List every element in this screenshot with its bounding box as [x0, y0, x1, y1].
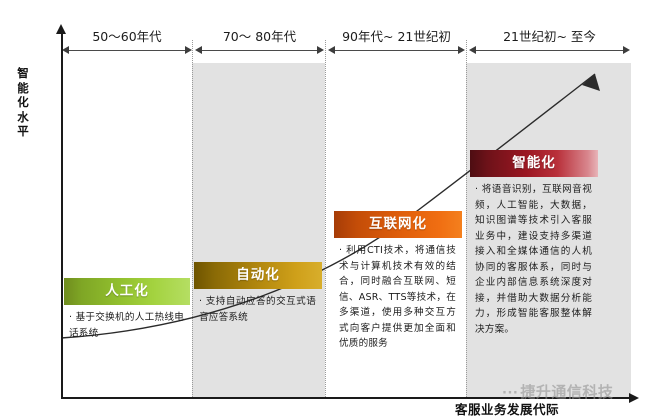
- era-span-line-1: [65, 50, 189, 51]
- watermark: ···捷升通信科技: [502, 381, 613, 402]
- arrow-right-icon: [623, 46, 630, 54]
- y-axis-label: 智能化水平: [14, 66, 32, 139]
- stage-body-artificial: · 基于交换机的人工热线电话系统: [64, 305, 190, 381]
- y-axis-arrow-icon: [56, 24, 66, 34]
- era-divider-1: [192, 40, 193, 399]
- era-span-line-4: [472, 50, 627, 51]
- stage-title-automation: 自动化: [194, 262, 322, 289]
- arrow-left-icon: [62, 46, 69, 54]
- era-span-line-3: [331, 50, 462, 51]
- stage-card-automation[interactable]: 自动化 · 支持自动应答的交互式语音应答系统: [194, 262, 322, 349]
- arrow-right-icon: [458, 46, 465, 54]
- era-divider-3: [466, 40, 467, 399]
- arrow-left-icon: [328, 46, 335, 54]
- watermark-text: 捷升通信科技: [520, 383, 613, 401]
- stage-body-intelligent: · 将语音识别，互联网音视频，人工智能，大数据，知识图谱等技术引入客服业务中，建…: [470, 177, 598, 347]
- roadmap-chart: 50～60年代 70～ 80年代 90年代~ 21世纪初 21世纪初~ 至今 智…: [0, 0, 652, 420]
- arrow-right-icon: [185, 46, 192, 54]
- stage-body-internet: · 利用CTI技术，将通信技术与计算机技术有效的结合，同时融合互联网、短信、AS…: [334, 238, 462, 374]
- arrow-left-icon: [195, 46, 202, 54]
- stage-title-artificial: 人工化: [64, 278, 190, 305]
- era-span-line-2: [198, 50, 321, 51]
- arrow-right-icon: [317, 46, 324, 54]
- era-header-4: 21世纪初~ 至今: [470, 26, 629, 62]
- x-axis-arrow-icon: [629, 393, 639, 403]
- stage-title-intelligent: 智能化: [470, 150, 598, 177]
- stage-card-artificial[interactable]: 人工化 · 基于交换机的人工热线电话系统: [64, 278, 190, 381]
- watermark-dots-icon: ···: [502, 386, 518, 401]
- stage-card-internet[interactable]: 互联网化 · 利用CTI技术，将通信技术与计算机技术有效的结合，同时融合互联网、…: [334, 211, 462, 374]
- era-header-1: 50～60年代: [63, 26, 191, 62]
- era-divider-2: [325, 40, 326, 399]
- y-axis: [61, 32, 63, 399]
- era-label-1: 50～60年代: [63, 26, 191, 45]
- stage-body-automation: · 支持自动应答的交互式语音应答系统: [194, 289, 322, 349]
- stage-card-intelligent[interactable]: 智能化 · 将语音识别，互联网音视频，人工智能，大数据，知识图谱等技术引入客服业…: [470, 150, 598, 347]
- arrow-left-icon: [469, 46, 476, 54]
- era-label-4: 21世纪初~ 至今: [470, 26, 629, 45]
- era-header-2: 70～ 80年代: [196, 26, 323, 62]
- stage-title-internet: 互联网化: [334, 211, 462, 238]
- era-label-3: 90年代~ 21世纪初: [329, 26, 464, 45]
- era-label-2: 70～ 80年代: [196, 26, 323, 45]
- era-header-3: 90年代~ 21世纪初: [329, 26, 464, 62]
